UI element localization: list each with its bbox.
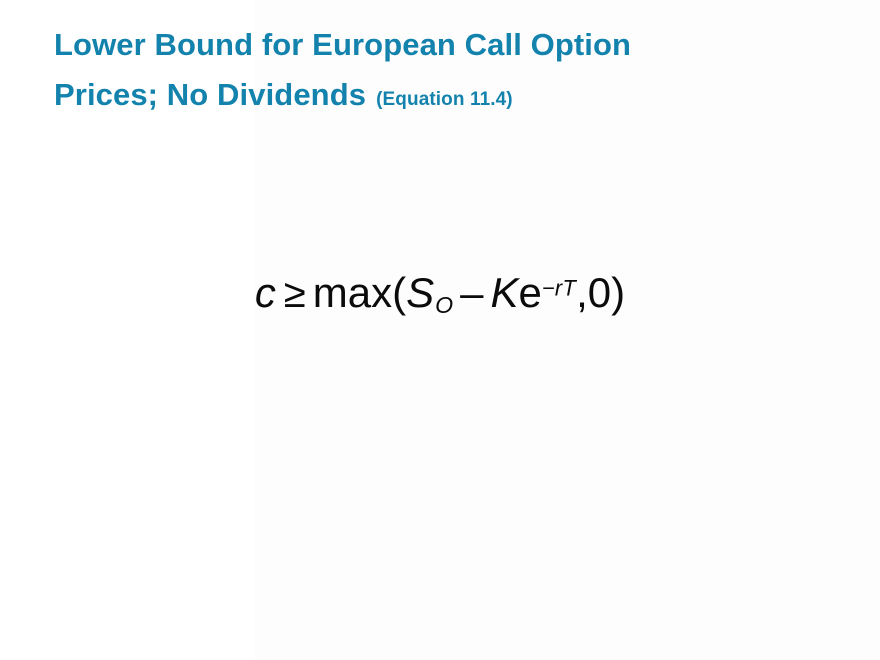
formula-exponential-base: e <box>519 269 542 316</box>
slide-title-block: Lower Bound for European Call Option Pri… <box>54 20 844 125</box>
formula-expression: c≥max(SO–Ke−rT,0) <box>255 272 625 318</box>
formula-open-paren: ( <box>392 269 406 316</box>
formula-strike-price-symbol: K <box>491 269 519 316</box>
formula-spot-price-symbol: S <box>406 269 434 316</box>
formula-comma: , <box>576 269 588 316</box>
formula-call-price-symbol: c <box>255 269 276 316</box>
formula-minus-operator: – <box>453 269 490 316</box>
formula-greater-equal-operator: ≥ <box>276 272 313 316</box>
formula-max-function: max <box>313 269 392 316</box>
slide: Lower Bound for European Call Option Pri… <box>0 0 880 660</box>
formula-exponent: −rT <box>542 276 576 301</box>
formula-container: c≥max(SO–Ke−rT,0) <box>0 272 880 318</box>
title-line-1: Lower Bound for European Call Option <box>54 20 844 70</box>
title-line-2-text: Prices; No Dividends <box>54 77 366 112</box>
formula-zero: 0 <box>588 269 611 316</box>
formula-close-paren: ) <box>611 269 625 316</box>
title-line-2: Prices; No Dividends(Equation 11.4) <box>54 70 844 125</box>
title-line-1-text: Lower Bound for European Call Option <box>54 27 631 62</box>
equation-reference: (Equation 11.4) <box>376 89 513 110</box>
formula-spot-subscript: O <box>434 292 453 318</box>
